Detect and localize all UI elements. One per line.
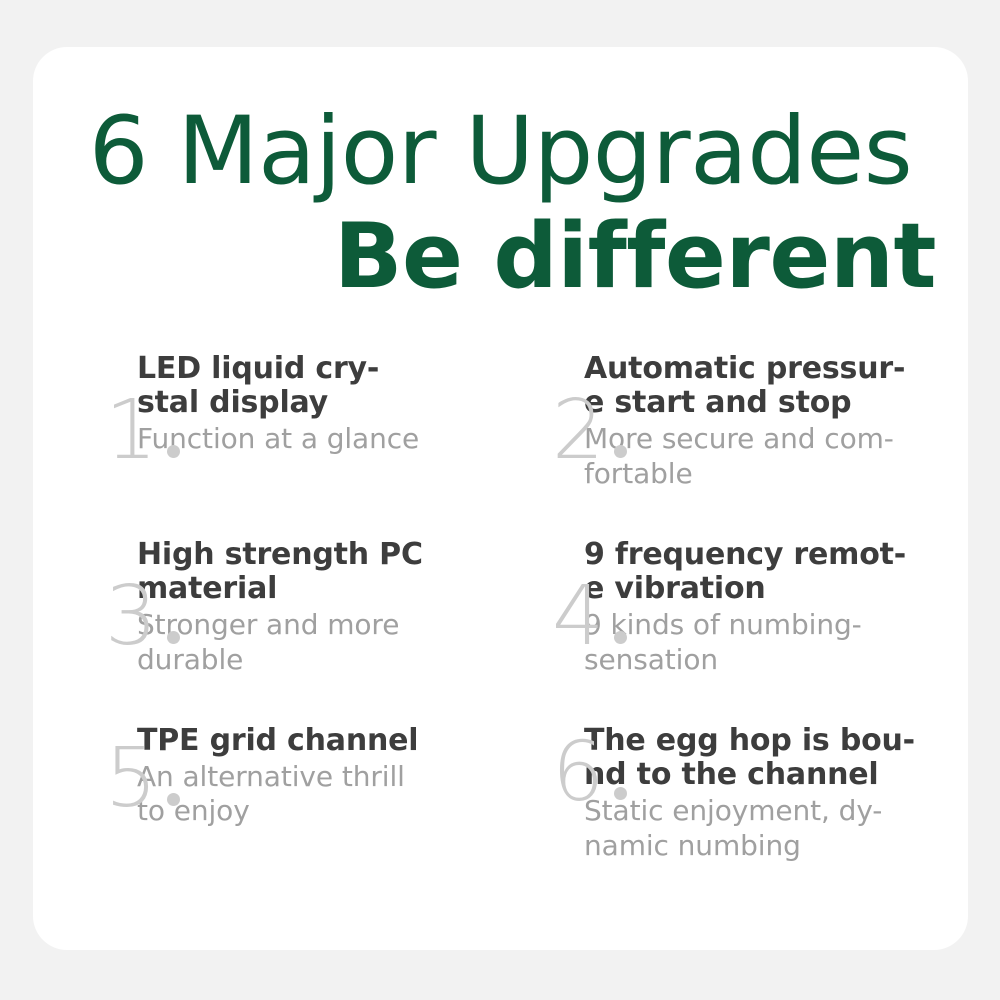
feature-item-5: 5 TPE grid channel An alternative thrill… — [33, 724, 480, 863]
feature-grid: 1 LED liquid cry- stal display Function … — [33, 352, 968, 863]
page-root: 6 Major Upgrades Be different 1 LED liqu… — [0, 0, 1000, 1000]
feature-title: LED liquid cry- stal display — [137, 352, 480, 420]
feature-subtitle: Function at a glance — [137, 422, 480, 456]
feature-number-dot — [614, 631, 627, 644]
feature-title: 9 frequency remot- e vibration — [584, 538, 927, 606]
feature-title: The egg hop is bou- nd to the channel — [584, 724, 927, 792]
feature-number-6: 6 — [480, 724, 584, 863]
feature-text-2: Automatic pressur- e start and stop More… — [584, 352, 927, 491]
feature-number-3: 3 — [33, 538, 137, 724]
feature-number-digit: 1 — [105, 390, 157, 472]
feature-number-dot — [614, 445, 627, 458]
feature-subtitle: More secure and com- fortable — [584, 422, 927, 490]
feature-number-dot — [167, 793, 180, 806]
headline-secondary: Be different — [33, 212, 968, 302]
feature-subtitle: An alternative thrill to enjoy — [137, 760, 480, 828]
feature-text-6: The egg hop is bou- nd to the channel St… — [584, 724, 927, 863]
feature-text-4: 9 frequency remot- e vibration 9 kinds o… — [584, 538, 927, 677]
feature-number-digit: 4 — [552, 576, 604, 658]
feature-number-digit: 3 — [105, 576, 157, 658]
feature-text-1: LED liquid cry- stal display Function at… — [137, 352, 480, 457]
feature-number-digit: 6 — [552, 732, 604, 814]
feature-title: High strength PC material — [137, 538, 480, 606]
feature-item-4: 4 9 frequency remot- e vibration 9 kinds… — [480, 538, 927, 724]
feature-text-5: TPE grid channel An alternative thrill t… — [137, 724, 480, 829]
feature-number-digit: 5 — [105, 738, 157, 820]
feature-title: TPE grid channel — [137, 724, 480, 758]
headline-primary: 6 Major Upgrades — [33, 105, 968, 199]
feature-item-6: 6 The egg hop is bou- nd to the channel … — [480, 724, 927, 863]
feature-subtitle: Static enjoyment, dy- namic numbing — [584, 794, 927, 862]
feature-card: 6 Major Upgrades Be different 1 LED liqu… — [33, 47, 968, 950]
feature-number-2: 2 — [480, 352, 584, 538]
feature-number-dot — [167, 631, 180, 644]
feature-number-dot — [614, 787, 627, 800]
feature-number-dot — [167, 445, 180, 458]
feature-number-digit: 2 — [552, 390, 604, 472]
feature-subtitle: 9 kinds of numbing- sensation — [584, 608, 927, 676]
feature-item-3: 3 High strength PC material Stronger and… — [33, 538, 480, 724]
feature-title: Automatic pressur- e start and stop — [584, 352, 927, 420]
feature-text-3: High strength PC material Stronger and m… — [137, 538, 480, 677]
feature-number-1: 1 — [33, 352, 137, 538]
feature-number-5: 5 — [33, 724, 137, 863]
feature-number-4: 4 — [480, 538, 584, 724]
feature-item-2: 2 Automatic pressur- e start and stop Mo… — [480, 352, 927, 538]
feature-item-1: 1 LED liquid cry- stal display Function … — [33, 352, 480, 538]
feature-subtitle: Stronger and more durable — [137, 608, 480, 676]
